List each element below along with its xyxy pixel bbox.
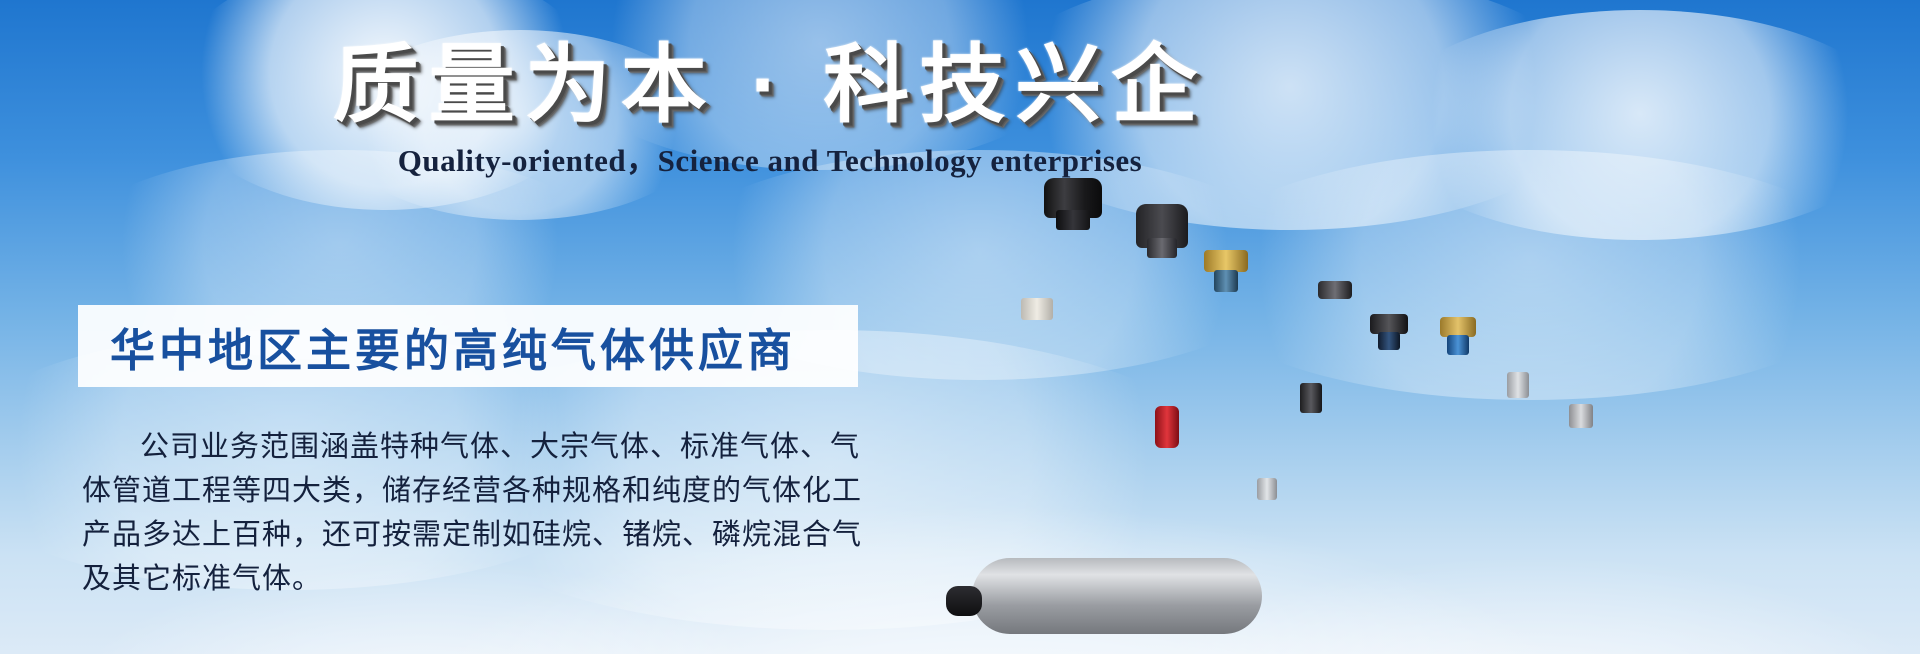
gas-cylinder-group-photo xyxy=(930,0,1920,654)
banner-paragraph: 公司业务范围涵盖特种气体、大宗气体、标准气体、气体管道工程等四大类，储存经营各种… xyxy=(82,425,872,601)
laying-cylinder-valve xyxy=(946,586,982,616)
silver-cylinder-tall xyxy=(1308,309,1362,554)
grey-cylinder-small xyxy=(920,274,1010,504)
aluminium-cylinder xyxy=(1490,394,1546,604)
laying-cylinder xyxy=(972,558,1262,634)
promotional-banner: 质量为本 · 科技兴企 Quality-oriented，Science and… xyxy=(0,0,1920,654)
bright-blue-cylinder xyxy=(1430,349,1486,589)
highlight-box-text: 华中地区主要的高纯气体供应商 xyxy=(78,314,796,379)
deep-red-cylinder xyxy=(1550,424,1612,614)
dark-blue-cylinder xyxy=(1360,344,1418,574)
highlight-box: 华中地区主要的高纯气体供应商 xyxy=(78,305,858,387)
